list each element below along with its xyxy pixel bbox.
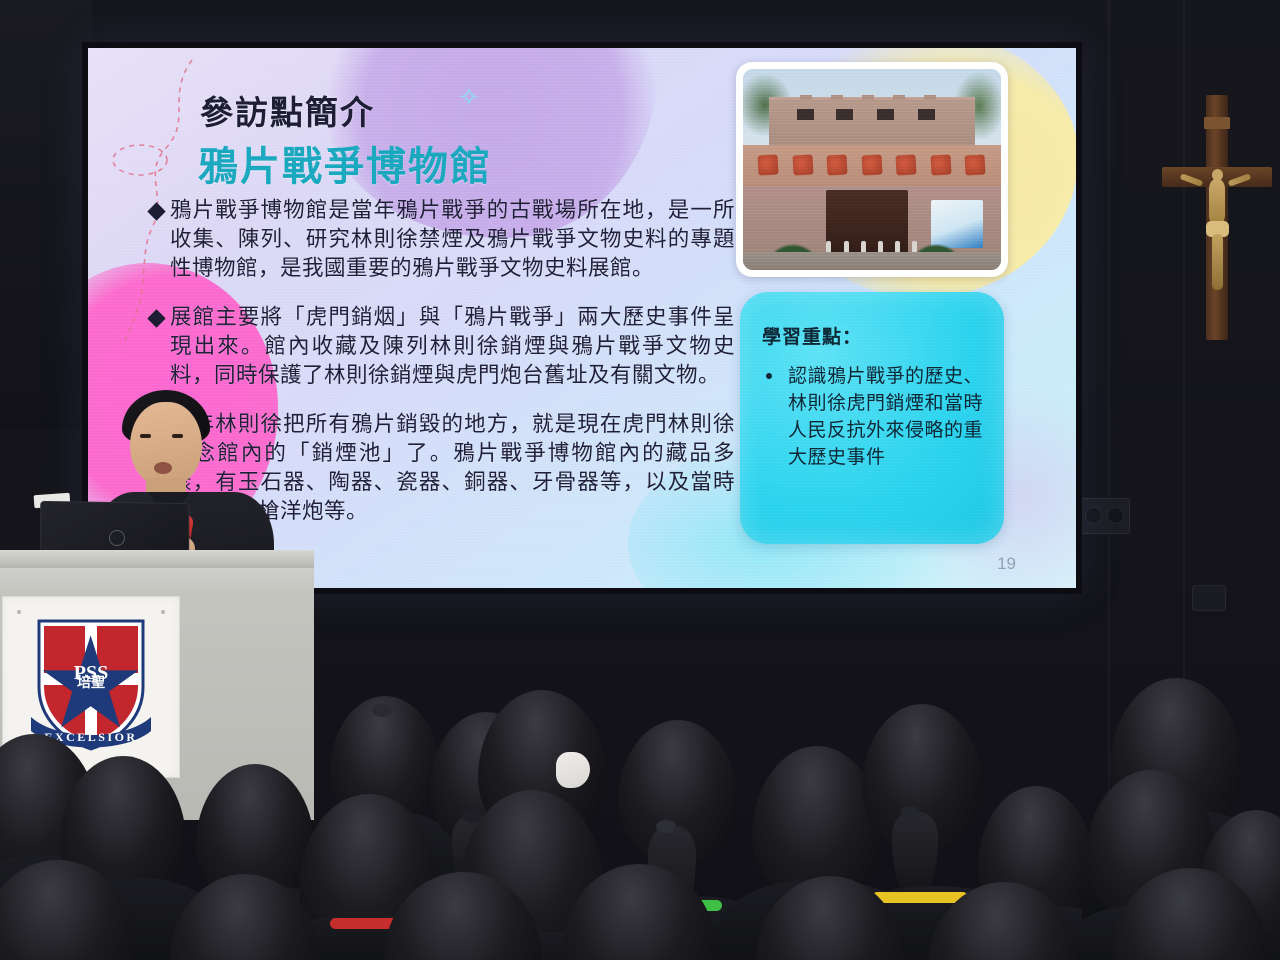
- photo-merlon: [862, 95, 874, 100]
- learning-point-item: 認識鴉片戰爭的歷史、林則徐虎門銷煙和當時人民反抗外來侵略的重大歷史事件: [762, 363, 986, 471]
- corpus-legs: [1212, 234, 1223, 290]
- photo-merlon: [924, 95, 936, 100]
- presentation-scene: ✧ 參訪點簡介 鴉片戰爭博物館 鴉片戰爭博物館是當年鴉片戰爭的古戰場所在地，是一…: [0, 0, 1280, 960]
- learning-points-card: 學習重點： 認識鴉片戰爭的歷史、林則徐虎門銷煙和當時人民反抗外來侵略的重大歷史事…: [740, 292, 1004, 544]
- photo-window: [797, 109, 814, 120]
- photo-merlon: [831, 95, 843, 100]
- photo-window: [918, 109, 935, 120]
- hair-tie: [656, 820, 676, 833]
- bullet-item: 鴉片戰爭博物館是當年鴉片戰爭的古戰場所在地，是一所收集、陳列、研究林則徐禁煙及鴉…: [150, 196, 735, 283]
- plate-screw: [17, 610, 21, 614]
- bullet-item: 展館主要將「虎門銷烟」與「鴉片戰爭」兩大歷史事件呈現出來。館內收藏及陳列林則徐銷…: [150, 303, 735, 390]
- museum-photo: [743, 69, 1001, 270]
- photo-poster-board: [931, 200, 983, 248]
- laptop-logo-icon: [109, 530, 125, 546]
- learning-point-text: 認識鴉片戰爭的歷史、林則徐虎門銷煙和當時人民反抗外來侵略的重大歷史事件: [788, 363, 986, 471]
- corpus-figure: [1200, 155, 1234, 305]
- photo-window: [877, 109, 894, 120]
- plate-screw: [161, 610, 165, 614]
- power-outlet-icon: [1078, 498, 1130, 534]
- sign-char: [861, 155, 882, 176]
- bullet-dot-icon: [766, 373, 772, 379]
- inri-plaque: [1204, 117, 1230, 129]
- uniform-collar: [872, 892, 968, 903]
- hair-tie: [900, 806, 920, 819]
- slide-page-number: 19: [997, 554, 1016, 574]
- photo-window: [836, 109, 853, 120]
- photo-building-sign: [758, 149, 985, 181]
- crucifix-icon: [1162, 95, 1272, 340]
- photo-ground: [743, 252, 1001, 270]
- outlet-socket: [1107, 507, 1124, 524]
- slide-title: 參訪點簡介: [200, 86, 375, 134]
- photo-building-upper: [769, 97, 975, 149]
- sign-char: [827, 155, 848, 176]
- sign-char: [930, 155, 951, 176]
- museum-photo-card: [736, 62, 1008, 277]
- sign-char: [758, 155, 779, 176]
- photo-visitors: [820, 230, 923, 254]
- presenter-eye: [140, 434, 151, 438]
- photo-merlon: [800, 95, 812, 100]
- bullet-text: 展館主要將「虎門銷烟」與「鴉片戰爭」兩大歷史事件呈現出來。館內收藏及陳列林則徐銷…: [170, 303, 735, 390]
- podium-top-edge: [0, 550, 314, 568]
- power-outlet-icon: [1192, 585, 1226, 611]
- slide-subtitle: 鴉片戰爭博物館: [198, 134, 492, 192]
- hair-tie: [372, 704, 392, 717]
- sparkle-icon: ✧: [458, 84, 484, 110]
- photo-merlon: [893, 95, 905, 100]
- diamond-bullet-icon: [147, 309, 165, 327]
- diamond-bullet-icon: [147, 202, 165, 220]
- outlet-socket: [1085, 507, 1102, 524]
- sign-char: [965, 155, 986, 176]
- learning-points-heading: 學習重點：: [762, 322, 986, 349]
- sign-char: [792, 155, 813, 176]
- bullet-text: 鴉片戰爭博物館是當年鴉片戰爭的古戰場所在地，是一所收集、陳列、研究林則徐禁煙及鴉…: [170, 196, 735, 283]
- audience-row: asics asics: [0, 660, 1280, 960]
- corpus-torso: [1209, 179, 1225, 225]
- presenter-mouth: [154, 462, 172, 474]
- sign-char: [896, 155, 917, 176]
- wall-left-panel: [0, 0, 92, 430]
- presenter-eye: [172, 434, 183, 438]
